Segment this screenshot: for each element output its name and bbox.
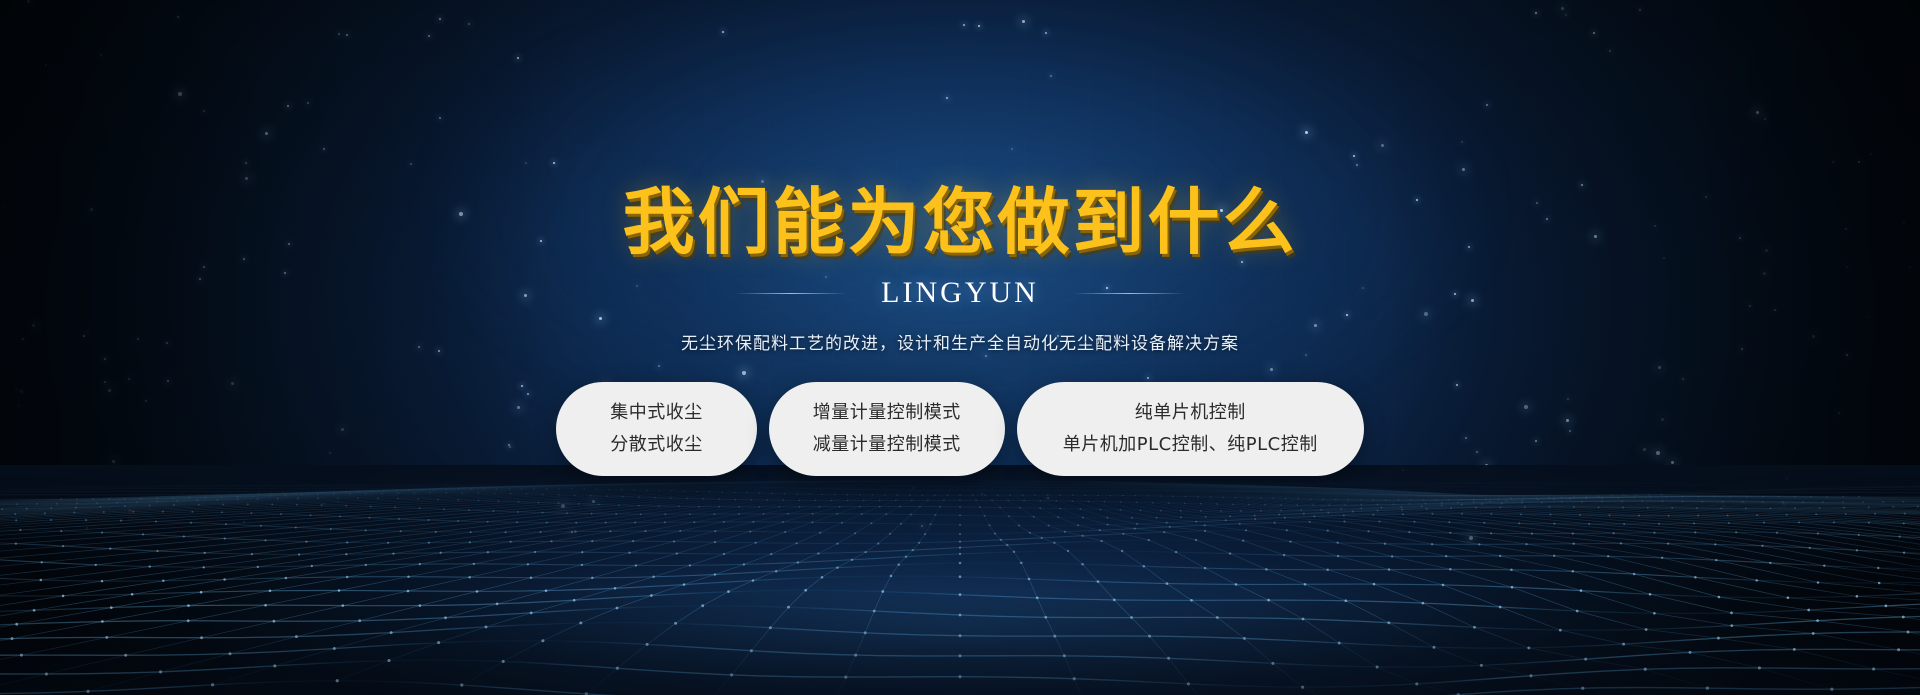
page-title: 我们能为您做到什么 [622,186,1297,258]
subtitle-row: LINGYUN [735,276,1185,310]
hero-banner: 我们能为您做到什么 LINGYUN 无尘环保配料工艺的改进，设计和生产全自动化无… [0,0,1920,695]
pill-line-2: 分散式收尘 [610,434,703,457]
pill-line-2: 减量计量控制模式 [813,434,961,457]
pill-line-2: 单片机加PLC控制、纯PLC控制 [1063,434,1318,457]
hero-description: 无尘环保配料工艺的改进，设计和生产全自动化无尘配料设备解决方案 [681,329,1239,354]
feature-pill-dust-collection[interactable]: 集中式收尘 分散式收尘 [556,382,757,476]
feature-pill-list: 集中式收尘 分散式收尘 增量计量控制模式 减量计量控制模式 纯单片机控制 单片机… [556,382,1363,476]
feature-pill-metering-mode[interactable]: 增量计量控制模式 减量计量控制模式 [769,382,1005,476]
hero-content: 我们能为您做到什么 LINGYUN 无尘环保配料工艺的改进，设计和生产全自动化无… [0,0,1920,695]
feature-pill-control-system[interactable]: 纯单片机控制 单片机加PLC控制、纯PLC控制 [1017,382,1364,476]
decorative-rule-right [1073,293,1185,294]
pill-line-1: 纯单片机控制 [1135,402,1246,425]
pill-line-1: 集中式收尘 [610,402,703,425]
decorative-rule-left [735,293,847,294]
pill-line-1: 增量计量控制模式 [813,402,961,425]
brand-subtitle: LINGYUN [881,276,1039,310]
